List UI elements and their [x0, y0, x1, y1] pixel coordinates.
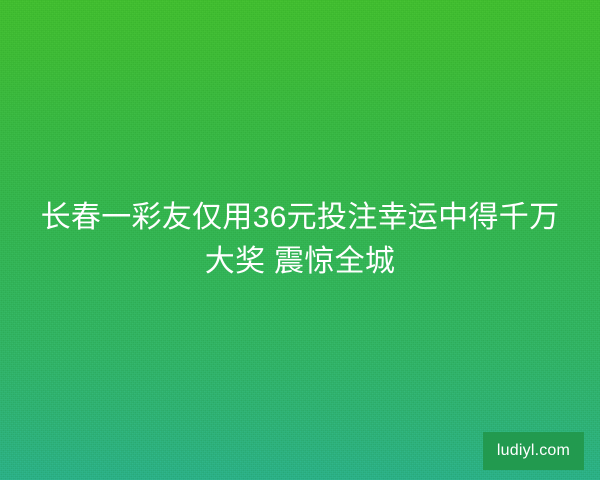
headline-text: 长春一彩友仅用36元投注幸运中得千万 大奖 震惊全城 [0, 196, 600, 284]
promo-banner: 长春一彩友仅用36元投注幸运中得千万 大奖 震惊全城 ludiyl.com [0, 0, 600, 480]
watermark-badge: ludiyl.com [483, 432, 584, 470]
watermark-label: ludiyl.com [497, 443, 570, 459]
